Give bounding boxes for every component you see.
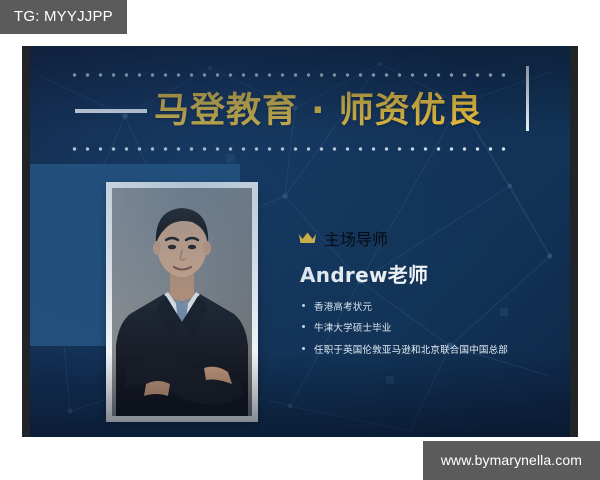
credential-text: 牛津大学硕士毕业 <box>314 323 392 335</box>
credential-text: 香港高考状元 <box>314 302 372 314</box>
slide-header: 马登教育 · 师资优良 <box>30 46 570 164</box>
site-watermark: www.bymarynella.com <box>423 441 600 480</box>
teacher-name: Andrew老师 <box>300 259 560 288</box>
avatar <box>112 188 252 416</box>
crown-icon <box>298 231 317 245</box>
page-title: 马登教育 · 师资优良 <box>154 82 483 133</box>
list-item: 香港高考状元 <box>302 302 560 314</box>
dotted-rule-top <box>68 73 508 77</box>
slide-canvas: 马登教育 · 师资优良 <box>30 46 570 437</box>
vertical-tick-icon <box>526 66 529 131</box>
slide-frame: 马登教育 · 师资优良 <box>22 46 578 437</box>
profile-info-block: 主场导师 Andrew老师 香港高考状元 牛津大学硕士毕业 任职于英国伦敦亚马逊… <box>298 226 560 366</box>
title-dash-icon <box>75 109 147 113</box>
list-item: 任职于英国伦敦亚马逊和北京联合国中国总部 <box>302 345 560 357</box>
portrait-card <box>106 182 258 422</box>
role-label: 主场导师 <box>324 226 388 250</box>
bullet-dot-icon <box>302 347 305 350</box>
list-item: 牛津大学硕士毕业 <box>302 323 560 335</box>
credential-text: 任职于英国伦敦亚马逊和北京联合国中国总部 <box>314 345 508 357</box>
bullet-dot-icon <box>302 325 305 328</box>
bullet-dot-icon <box>302 304 305 307</box>
role-row: 主场导师 <box>298 226 560 250</box>
dotted-rule-bottom <box>68 147 508 151</box>
telegram-handle-badge: TG: MYYJJPP <box>0 0 127 34</box>
